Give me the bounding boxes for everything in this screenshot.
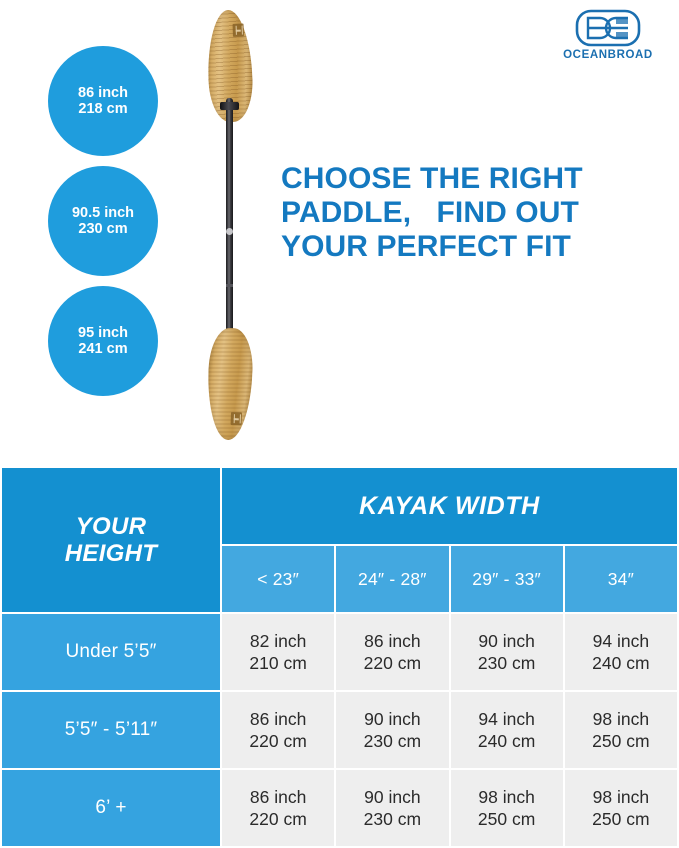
- cell-cm: 240 cm: [565, 652, 677, 674]
- size-bubble-cm: 241 cm: [78, 341, 127, 357]
- headline-line-3: YOUR PERFECT FIT: [281, 230, 673, 264]
- row-label-under-5-5: Under 5’5″: [1, 613, 221, 691]
- cell-cm: 230 cm: [451, 652, 563, 674]
- size-bubble-90-5-inch: 90.5 inch 230 cm: [48, 166, 158, 276]
- cell-cm: 220 cm: [222, 730, 334, 752]
- paddle-shaft: [226, 98, 233, 356]
- table-cell: 98 inch 250 cm: [450, 769, 564, 847]
- cell-cm: 250 cm: [451, 808, 563, 830]
- size-bubble-inch: 86 inch: [78, 85, 128, 101]
- cell-inch: 90 inch: [451, 630, 563, 652]
- cell-inch: 86 inch: [222, 786, 334, 808]
- table-cell: 90 inch 230 cm: [335, 769, 449, 847]
- cell-cm: 210 cm: [222, 652, 334, 674]
- table-cell: 86 inch 220 cm: [335, 613, 449, 691]
- size-bubble-cm: 218 cm: [78, 101, 127, 117]
- size-bubble-95-inch: 95 inch 241 cm: [48, 286, 158, 396]
- size-chart-table: YOUR HEIGHT KAYAK WIDTH < 23″ 24″ - 28″ …: [0, 466, 679, 848]
- your-height-header-line-1: YOUR: [2, 513, 220, 540]
- cell-cm: 230 cm: [336, 808, 448, 830]
- cell-cm: 250 cm: [565, 808, 677, 830]
- paddle-blade-bottom-icon: [206, 327, 254, 440]
- cell-cm: 220 cm: [222, 808, 334, 830]
- cell-cm: 240 cm: [451, 730, 563, 752]
- headline-line-1: CHOOSE THE RIGHT: [281, 162, 673, 196]
- cell-inch: 90 inch: [336, 708, 448, 730]
- cell-inch: 86 inch: [336, 630, 448, 652]
- table-cell: 86 inch 220 cm: [221, 691, 335, 769]
- table-row: 5’5″ - 5’11″ 86 inch 220 cm 90 inch 230 …: [1, 691, 678, 769]
- cell-inch: 94 inch: [451, 708, 563, 730]
- cell-inch: 98 inch: [451, 786, 563, 808]
- table-cell: 98 inch 250 cm: [564, 691, 678, 769]
- table-cell: 82 inch 210 cm: [221, 613, 335, 691]
- table-cell: 94 inch 240 cm: [450, 691, 564, 769]
- table-cell: 86 inch 220 cm: [221, 769, 335, 847]
- cell-inch: 94 inch: [565, 630, 677, 652]
- brand-wordmark: OCEANBROAD: [556, 49, 660, 61]
- width-subheader-0: < 23″: [221, 545, 335, 613]
- size-bubble-86-inch: 86 inch 218 cm: [48, 46, 158, 156]
- row-label-5-5-to-5-11: 5’5″ - 5’11″: [1, 691, 221, 769]
- width-subheader-1: 24″ - 28″: [335, 545, 449, 613]
- width-subheader-2: 29″ - 33″: [450, 545, 564, 613]
- brand-logo: OCEANBROAD: [556, 8, 660, 66]
- kayak-width-header: KAYAK WIDTH: [221, 467, 678, 545]
- cell-cm: 250 cm: [565, 730, 677, 752]
- cell-inch: 82 inch: [222, 630, 334, 652]
- table-header-row: YOUR HEIGHT KAYAK WIDTH: [1, 467, 678, 545]
- paddle-ferrule-seam: [226, 284, 233, 287]
- kayak-paddle-illustration: [196, 2, 282, 450]
- table-row: Under 5’5″ 82 inch 210 cm 86 inch 220 cm…: [1, 613, 678, 691]
- cell-inch: 86 inch: [222, 708, 334, 730]
- cell-inch: 98 inch: [565, 786, 677, 808]
- paddle-brand-stamp-icon: [233, 24, 244, 37]
- size-bubble-inch: 90.5 inch: [72, 205, 134, 221]
- width-subheader-3: 34″: [564, 545, 678, 613]
- page-title: CHOOSE THE RIGHT PADDLE, FIND OUT YOUR P…: [281, 162, 673, 265]
- paddle-brand-stamp-icon: [231, 412, 242, 425]
- your-height-header-line-2: HEIGHT: [2, 540, 220, 567]
- headline-line-2: PADDLE, FIND OUT: [281, 196, 673, 230]
- table-cell: 94 inch 240 cm: [564, 613, 678, 691]
- table-cell: 98 inch 250 cm: [564, 769, 678, 847]
- paddle-size-table: YOUR HEIGHT KAYAK WIDTH < 23″ 24″ - 28″ …: [0, 466, 679, 835]
- row-label-6-plus: 6’ +: [1, 769, 221, 847]
- oceanbroad-emblem-icon: [556, 8, 660, 48]
- table-cell: 90 inch 230 cm: [450, 613, 564, 691]
- paddle-ferrule-button-icon: [226, 228, 233, 235]
- table-cell: 90 inch 230 cm: [335, 691, 449, 769]
- size-bubble-inch: 95 inch: [78, 325, 128, 341]
- cell-cm: 230 cm: [336, 730, 448, 752]
- your-height-header: YOUR HEIGHT: [1, 467, 221, 613]
- cell-inch: 98 inch: [565, 708, 677, 730]
- table-row: 6’ + 86 inch 220 cm 90 inch 230 cm 98 in…: [1, 769, 678, 847]
- cell-cm: 220 cm: [336, 652, 448, 674]
- cell-inch: 90 inch: [336, 786, 448, 808]
- paddle-collar-top: [220, 102, 239, 110]
- size-bubble-cm: 230 cm: [78, 221, 127, 237]
